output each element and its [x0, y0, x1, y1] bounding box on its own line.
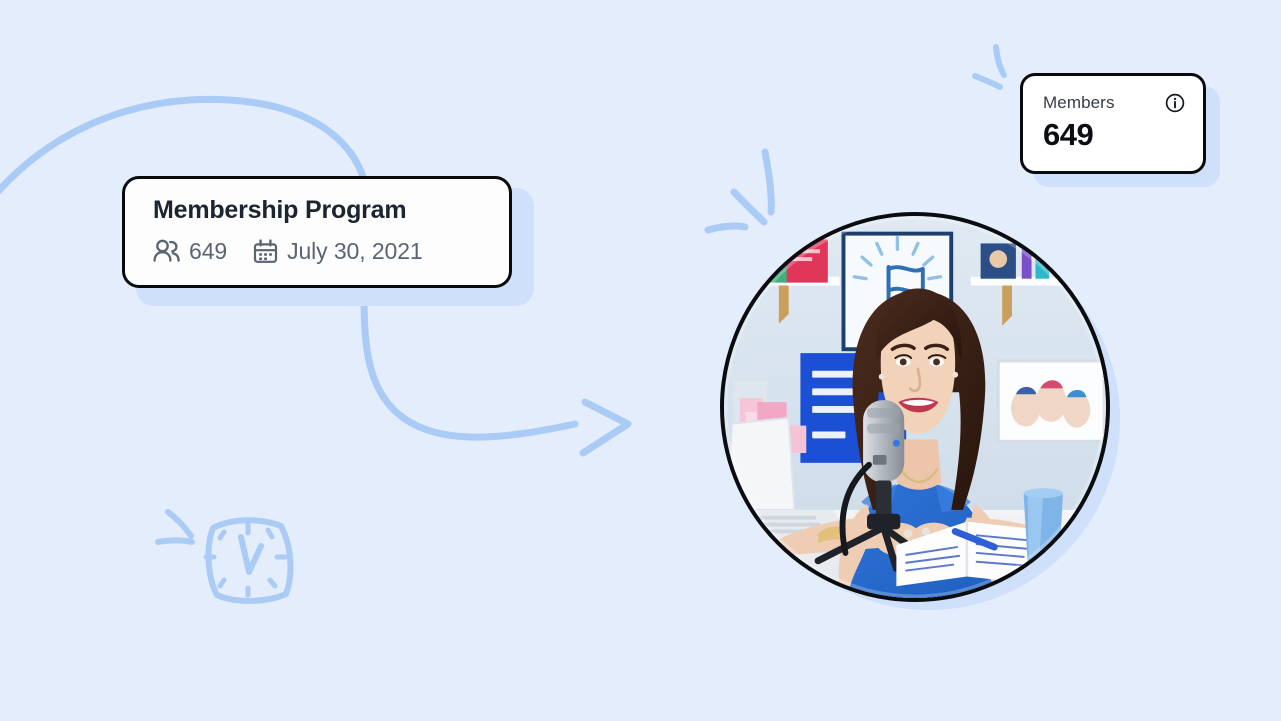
avatar	[720, 212, 1110, 602]
people-icon	[153, 239, 180, 263]
program-date-item: July 30, 2021	[253, 238, 423, 265]
calendar-icon	[253, 239, 278, 264]
members-stat-card[interactable]: Members 649	[1020, 73, 1206, 174]
page-title: Membership Program	[153, 197, 509, 225]
arrowhead-icon	[583, 402, 628, 453]
program-meta-row: 649	[153, 238, 509, 265]
info-circle-icon[interactable]	[1165, 93, 1185, 113]
hand-drawn-clock-doodle	[206, 520, 290, 601]
members-count-item: 649	[153, 238, 227, 265]
members-count-value: 649	[189, 238, 227, 265]
sparkle-doodle-photo	[708, 152, 771, 230]
members-stat-value: 649	[1043, 117, 1185, 153]
podcast-photo	[724, 216, 1106, 598]
sparkle-doodle-card	[975, 47, 1004, 87]
program-date-value: July 30, 2021	[287, 238, 423, 265]
promo-canvas: Membership Program 649	[0, 0, 1281, 721]
members-stat-label: Members	[1043, 93, 1115, 113]
membership-program-card[interactable]: Membership Program 649	[122, 176, 512, 288]
members-card-header: Members	[1043, 93, 1185, 113]
sparkle-doodle-left	[158, 512, 192, 542]
